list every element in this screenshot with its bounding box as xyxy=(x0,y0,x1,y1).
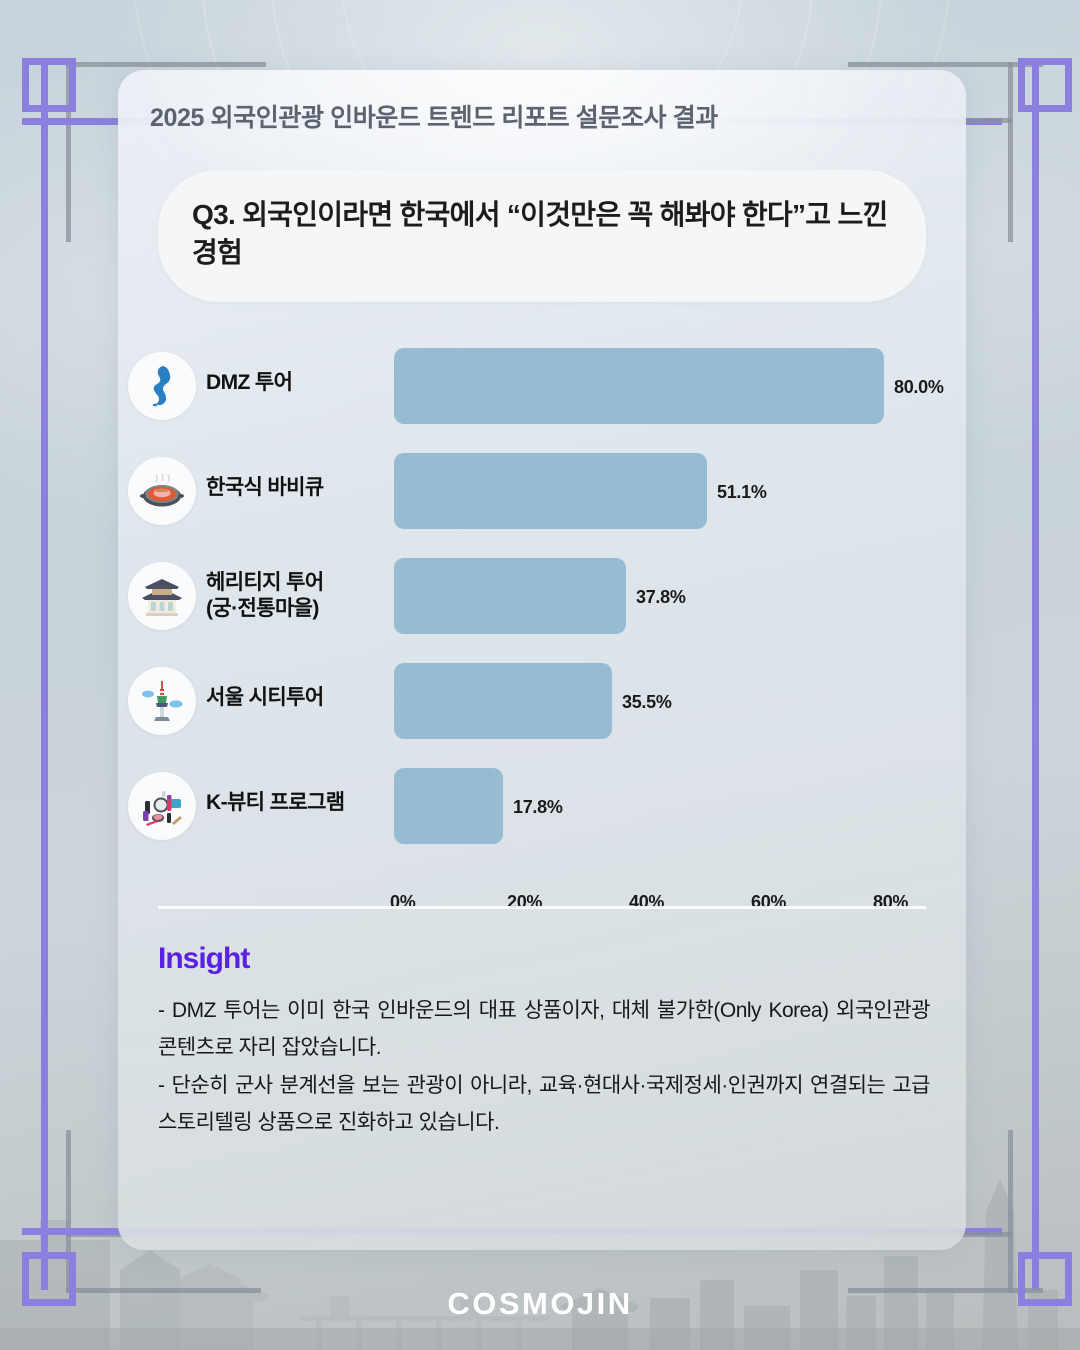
frame-line-tr-v xyxy=(1032,58,1039,1290)
bar-value-2: 37.8% xyxy=(636,587,686,608)
report-title: 2025 외국인관광 인바운드 트렌드 리포트 설문조사 결과 xyxy=(150,98,718,134)
x-tick-1: 20% xyxy=(507,892,542,913)
content-card: 2025 외국인관광 인바운드 트렌드 리포트 설문조사 결과 Q3. 외국인이… xyxy=(118,70,966,1250)
icon-circle-palace xyxy=(128,562,196,630)
row-label-0: DMZ 투어 xyxy=(206,370,292,396)
icon-circle-korean-bbq xyxy=(128,457,196,525)
x-tick-4: 80% xyxy=(873,892,908,913)
x-tick-0: 0% xyxy=(390,892,415,913)
frame-box-tl xyxy=(22,58,76,112)
cosmetics-icon xyxy=(139,783,185,829)
question-pill: Q3. 외국인이라면 한국에서 “이것만은 꼭 해봐야 한다”고 느낀 경험 xyxy=(158,170,926,302)
korean-bbq-icon xyxy=(139,468,185,514)
bar-value-3: 35.5% xyxy=(622,692,672,713)
x-tick-3: 60% xyxy=(751,892,786,913)
insight-heading: Insight xyxy=(158,942,930,976)
question-text: Q3. 외국인이라면 한국에서 “이것만은 꼭 해봐야 한다”고 느낀 경험 xyxy=(192,196,892,272)
bar-value-0: 80.0% xyxy=(894,377,944,398)
korea-map-icon xyxy=(139,363,185,409)
frame-line-tl-h-grey xyxy=(66,62,266,67)
bar-3 xyxy=(394,663,612,739)
frame-line-tl-v xyxy=(41,58,48,1290)
insight-line-0: - DMZ 투어는 이미 한국 인바운드의 대표 상품이자, 대체 불가한(On… xyxy=(158,992,930,1067)
frame-line-tr-h-grey xyxy=(848,62,1043,67)
section-divider xyxy=(158,906,926,909)
namsan-tower-icon xyxy=(139,678,185,724)
bar-2 xyxy=(394,558,626,634)
row-label-2: 헤리티지 투어 (궁·전통마을) xyxy=(206,570,324,623)
icon-circle-cosmetics xyxy=(128,772,196,840)
bar-value-4: 17.8% xyxy=(513,797,563,818)
icon-circle-korea-map xyxy=(128,352,196,420)
frame-line-tr-v-grey xyxy=(1008,62,1013,242)
bar-4 xyxy=(394,768,503,844)
palace-icon xyxy=(139,573,185,619)
bar-0 xyxy=(394,348,884,424)
bar-value-1: 51.1% xyxy=(717,482,767,503)
row-label-1: 한국식 바비큐 xyxy=(206,475,324,501)
icon-circle-namsan-tower xyxy=(128,667,196,735)
insight-line-1: - 단순히 군사 분계선을 보는 관광이 아니라, 교육·현대사·국제정세·인권… xyxy=(158,1067,930,1142)
brand-logo: COSMOJIN xyxy=(0,1286,1080,1322)
row-label-4: K-뷰티 프로그램 xyxy=(206,790,345,816)
x-axis: 0% 20% 40% 60% 80% xyxy=(394,892,934,918)
x-tick-2: 40% xyxy=(629,892,664,913)
bar-chart: DMZ 투어 80.0% 한국식 바비큐 51.1% xyxy=(118,340,966,880)
bar-1 xyxy=(394,453,707,529)
frame-box-tr xyxy=(1018,58,1072,112)
frame-line-br-v-grey xyxy=(1008,1130,1013,1293)
insight-section: Insight - DMZ 투어는 이미 한국 인바운드의 대표 상품이자, 대… xyxy=(158,942,930,1142)
row-label-3: 서울 시티투어 xyxy=(206,685,324,711)
